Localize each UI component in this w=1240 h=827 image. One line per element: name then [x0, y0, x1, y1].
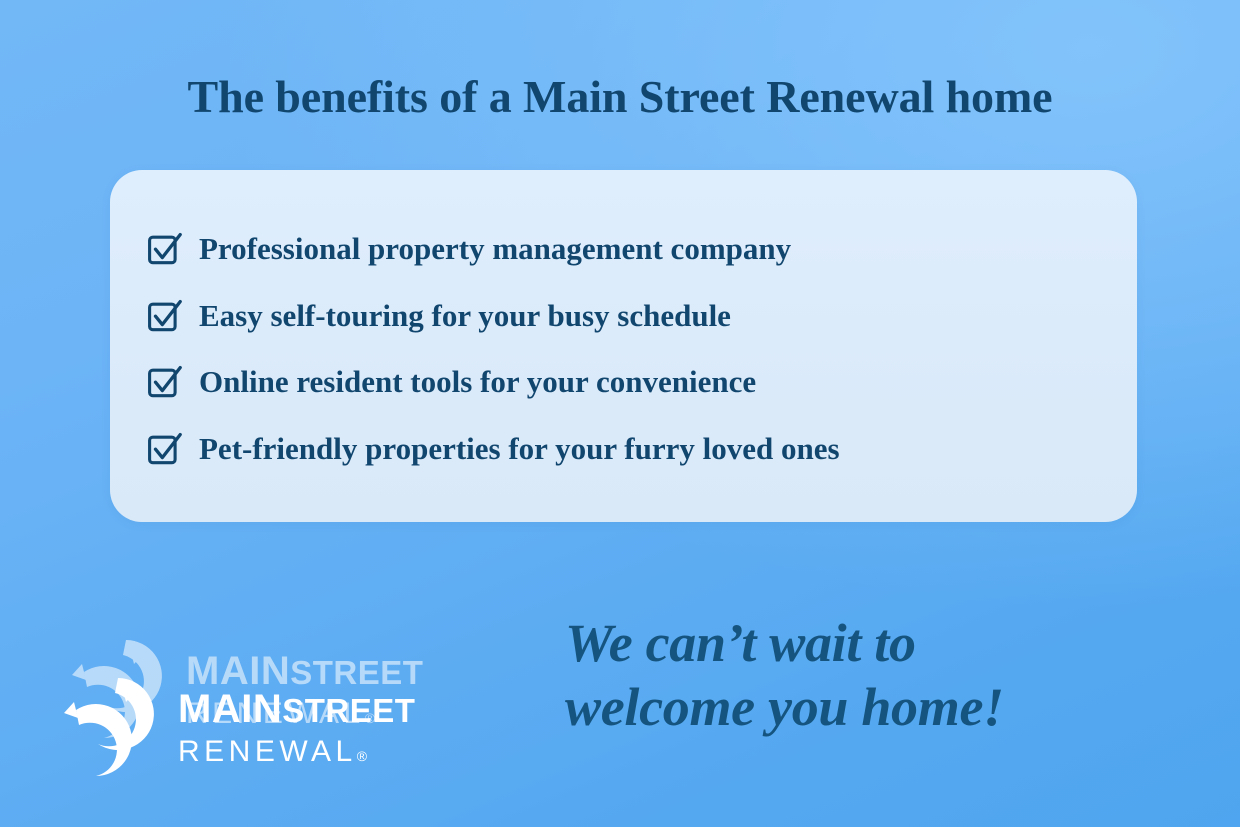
benefit-item: Easy self-touring for your busy schedule — [147, 283, 1097, 350]
wordmark-secondary: STREET — [282, 692, 415, 729]
benefit-label: Easy self-touring for your busy schedule — [199, 298, 731, 334]
promo-poster: The benefits of a Main Street Renewal ho… — [0, 0, 1240, 827]
registered-mark-icon: ® — [357, 748, 367, 764]
benefit-label: Pet-friendly properties for your furry l… — [199, 431, 840, 467]
brand-logo: MAINSTREET RENEWAL® — [52, 628, 532, 788]
interlocking-rings-logo-mark — [52, 672, 164, 784]
tagline: We can’t wait to welcome you home! — [565, 612, 1185, 739]
benefit-item: Online resident tools for your convenien… — [147, 349, 1097, 416]
checkbox-checked-icon — [147, 232, 181, 266]
benefit-item: Professional property management company — [147, 216, 1097, 283]
benefit-item: Pet-friendly properties for your furry l… — [147, 416, 1097, 483]
checkbox-checked-icon — [147, 432, 181, 466]
benefits-card: Professional property management company… — [110, 170, 1137, 522]
benefit-label: Online resident tools for your convenien… — [199, 364, 756, 400]
wordmark-main: MAIN — [178, 687, 282, 731]
tagline-line-2: welcome you home! — [565, 676, 1185, 740]
brand-logo-main-copy: MAINSTREET RENEWAL® — [52, 672, 415, 784]
checkbox-checked-icon — [147, 299, 181, 333]
tagline-line-1: We can’t wait to — [565, 612, 1185, 676]
checkbox-checked-icon — [147, 365, 181, 399]
brand-wordmark: MAINSTREET RENEWAL® — [178, 689, 415, 767]
wordmark-sub: RENEWAL — [178, 735, 357, 768]
page-title: The benefits of a Main Street Renewal ho… — [0, 72, 1240, 123]
benefit-label: Professional property management company — [199, 231, 791, 267]
